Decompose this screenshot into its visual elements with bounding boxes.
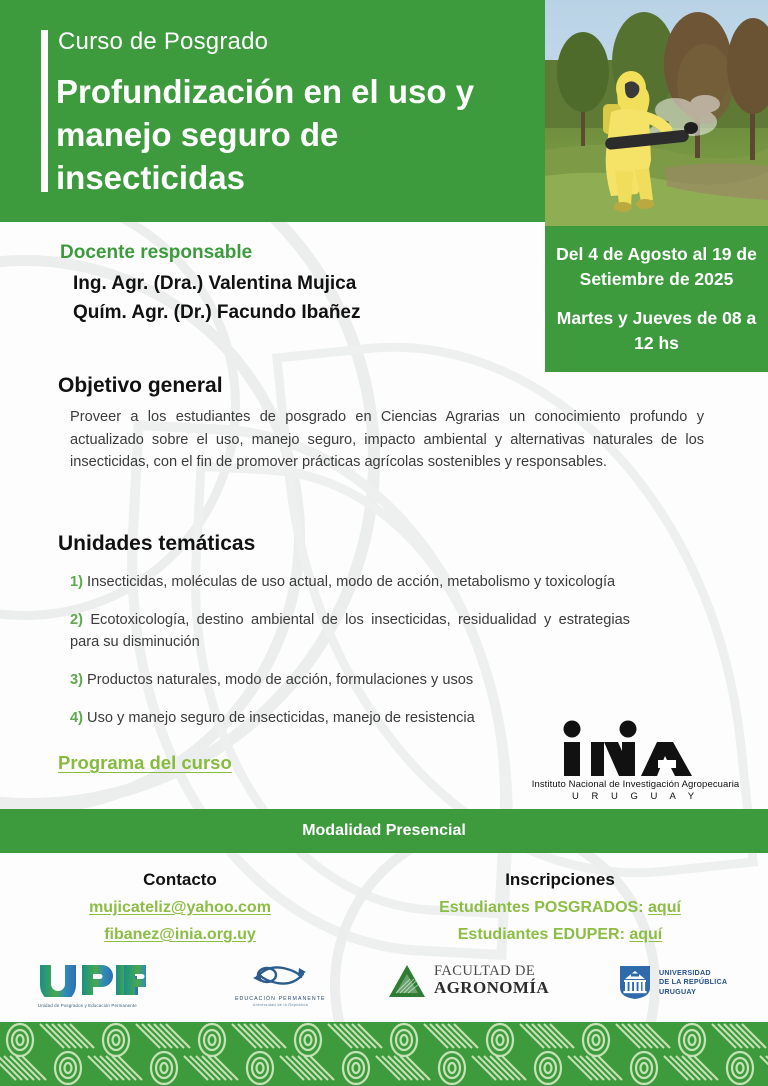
udelar-logo: UNIVERSIDAD DE LA REPÚBLICA URUGUAY: [618, 964, 727, 1000]
contact-column: Contacto mujicateliz@yahoo.com fibanez@i…: [40, 870, 320, 944]
unidad-number: 2): [70, 612, 83, 628]
unidad-item: 2) Ecotoxicología, destino ambiental de …: [70, 610, 630, 654]
docente-name-2: Quím. Agr. (Dr.) Facundo Ibañez: [60, 300, 361, 327]
udelar-line-2: DE LA REPÚBLICA: [659, 977, 727, 987]
contact-heading: Contacto: [40, 870, 320, 890]
contact-email-1[interactable]: mujicateliz@yahoo.com: [40, 899, 320, 917]
course-kicker: Curso de Posgrado: [58, 28, 268, 56]
orchard-spraying-illustration: [545, 0, 768, 226]
date-schedule: Martes y Jueves de 08 a 12 hs: [545, 306, 768, 356]
agronomia-line-2: AGRONOMÍA: [434, 979, 549, 998]
educacion-permanente-logo: EDUCACIÓN PERMANENTE Universidad de la R…: [235, 961, 326, 1007]
programa-del-curso-link[interactable]: Programa del curso: [58, 752, 232, 774]
unidad-number: 3): [70, 672, 83, 688]
poster-header: Curso de Posgrado Profundización en el u…: [0, 0, 545, 222]
educacion-permanente-name: EDUCACIÓN PERMANENTE: [235, 996, 326, 1002]
inscriptions-column: Inscripciones Estudiantes POSGRADOS: aqu…: [395, 870, 725, 944]
docente-heading: Docente responsable: [60, 242, 361, 264]
upep-logo: Unidad de Posgrados y Educación Permanen…: [38, 963, 146, 1008]
inia-tagline: Instituto Nacional de Investigación Agro…: [523, 779, 748, 790]
inscription-row: Estudiantes POSGRADOS: aquí: [395, 899, 725, 917]
udelar-shield-icon: [618, 964, 652, 1000]
course-poster: Curso de Posgrado Profundización en el u…: [0, 0, 768, 1086]
unidad-text: Uso y manejo seguro de insecticidas, man…: [87, 710, 475, 726]
unidades-heading: Unidades temáticas: [58, 532, 718, 556]
inscription-label: Estudiantes EDUPER:: [458, 926, 625, 943]
inscriptions-heading: Inscripciones: [395, 870, 725, 890]
udelar-line-3: URUGUAY: [659, 987, 727, 997]
upep-wordmark-icon: [38, 963, 146, 997]
modality-banner: Modalidad Presencial: [0, 809, 768, 853]
educacion-permanente-swirl-icon: [243, 961, 317, 989]
agronomia-triangle-icon: [388, 963, 426, 999]
contact-email-2[interactable]: fibanez@inia.org.uy: [40, 926, 320, 944]
partner-logos: Unidad de Posgrados y Educación Permanen…: [0, 958, 768, 1020]
spraying-photo: [545, 0, 768, 226]
docente-name-1: Ing. Agr. (Dra.) Valentina Mujica: [60, 271, 361, 298]
unidad-number: 1): [70, 574, 83, 590]
upep-subtitle: Unidad de Posgrados y Educación Permanen…: [38, 1003, 146, 1008]
date-range: Del 4 de Agosto al 19 de Setiembre de 20…: [545, 242, 768, 292]
objetivo-heading: Objetivo general: [58, 374, 708, 398]
objetivo-text: Proveer a los estudiantes de posgrado en…: [70, 406, 704, 474]
course-dates-box: Del 4 de Agosto al 19 de Setiembre de 20…: [545, 226, 768, 372]
unidad-item: 3) Productos naturales, modo de acción, …: [70, 670, 670, 692]
inscription-row: Estudiantes EDUPER: aquí: [395, 926, 725, 944]
inscription-link-eduper[interactable]: aquí: [629, 926, 662, 943]
header-accent-bar: [41, 30, 48, 192]
inscription-link-posgrados[interactable]: aquí: [648, 899, 681, 916]
inscription-label: Estudiantes POSGRADOS:: [439, 899, 643, 916]
unidad-item: 1) Insecticidas, moléculas de uso actual…: [70, 572, 670, 594]
unidad-text: Insecticidas, moléculas de uso actual, m…: [87, 574, 615, 590]
educacion-permanente-subtitle: Universidad de la República: [235, 1003, 326, 1007]
pattern-motif-icon: [0, 1022, 768, 1086]
section-docente: Docente responsable Ing. Agr. (Dra.) Val…: [60, 242, 361, 327]
unidad-text: Productos naturales, modo de acción, for…: [87, 672, 473, 688]
udelar-line-1: UNIVERSIDAD: [659, 968, 727, 978]
unidad-text: Ecotoxicología, destino ambiental de los…: [70, 612, 630, 650]
section-unidades: Unidades temáticas 1) Insecticidas, molé…: [58, 532, 718, 729]
inia-wordmark-icon: [523, 720, 748, 776]
agronomia-logo: FACULTAD DE AGRONOMÍA: [388, 963, 549, 999]
inia-logo: Instituto Nacional de Investigación Agro…: [523, 720, 748, 802]
agronomia-line-1: FACULTAD DE: [434, 964, 549, 979]
course-title: Profundización en el uso y manejo seguro…: [56, 70, 486, 200]
section-objetivo: Objetivo general Proveer a los estudiant…: [58, 374, 708, 474]
inia-country: U R U G U A Y: [523, 791, 748, 802]
unidad-number: 4): [70, 710, 83, 726]
decorative-pattern-strip: [0, 1022, 768, 1086]
